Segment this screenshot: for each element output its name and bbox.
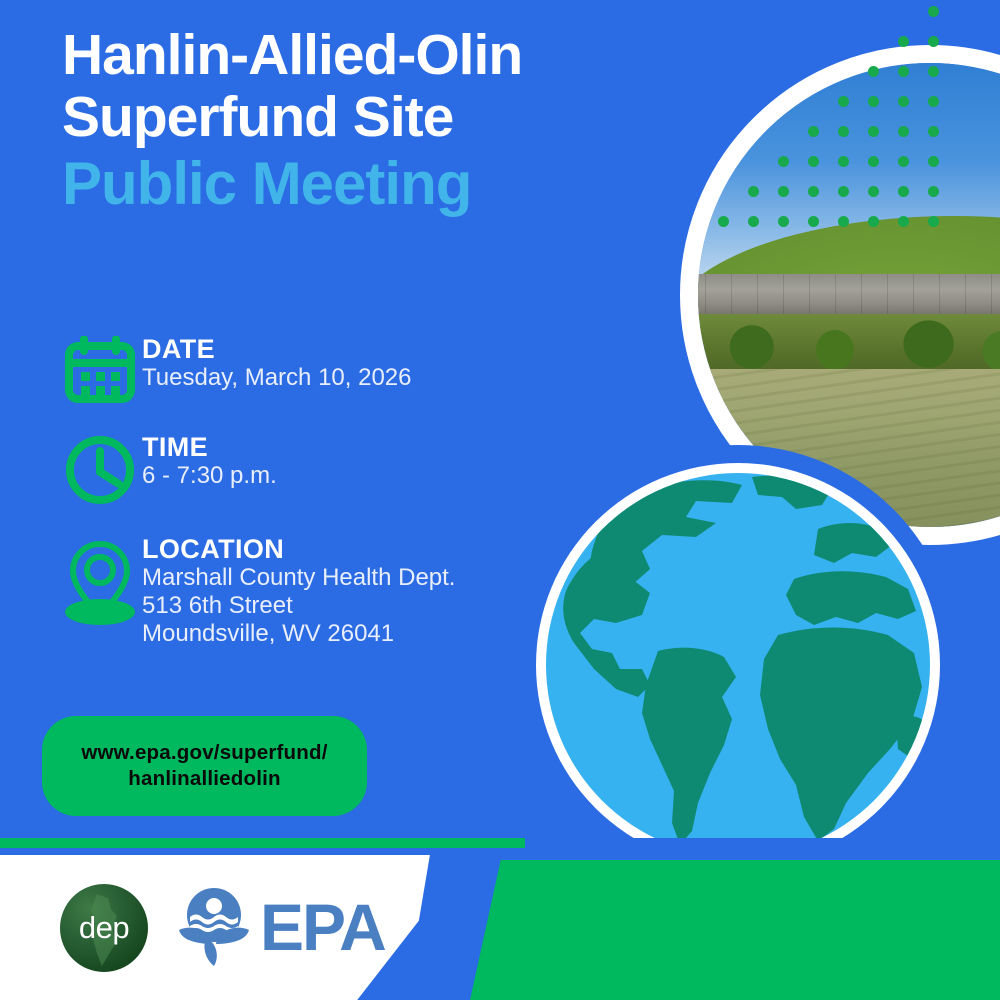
decorative-dot	[838, 96, 849, 107]
detail-value-date: Tuesday, March 10, 2026	[142, 364, 411, 392]
globe-sphere	[546, 473, 930, 857]
decorative-dot	[868, 126, 879, 137]
decorative-dot	[928, 186, 939, 197]
decorative-dot	[838, 126, 849, 137]
decorative-dot	[868, 216, 879, 227]
decorative-dot	[778, 216, 789, 227]
poster-canvas: Hanlin-Allied-Olin Superfund Site Public…	[0, 0, 1000, 1000]
decorative-dot	[928, 216, 939, 227]
decorative-dot	[898, 36, 909, 47]
decorative-dot	[838, 186, 849, 197]
detail-value-location-2: 513 6th Street	[142, 592, 455, 620]
decorative-dot	[778, 186, 789, 197]
detail-label-location: LOCATION	[142, 534, 455, 564]
epa-flower-icon-svg	[176, 886, 252, 968]
decorative-dot	[868, 96, 879, 107]
title-heading: Hanlin-Allied-Olin Superfund Site Public…	[62, 24, 702, 216]
detail-text-date: DATE Tuesday, March 10, 2026	[142, 332, 411, 392]
detail-text-location: LOCATION Marshall County Health Dept. 51…	[142, 532, 455, 648]
epa-logo-text: EPA	[260, 894, 385, 960]
decorative-dot	[718, 216, 729, 227]
decorative-dot	[898, 66, 909, 77]
title-line-2: Superfund Site	[62, 85, 453, 149]
footer-green-line	[0, 838, 525, 848]
calendar-icon-svg	[64, 336, 136, 404]
location-pin-icon	[58, 532, 142, 628]
decorative-dot	[808, 186, 819, 197]
decorative-dot	[928, 156, 939, 167]
location-pin-icon-svg	[62, 536, 138, 628]
detail-value-location-3: Moundsville, WV 26041	[142, 620, 455, 648]
detail-label-date: DATE	[142, 334, 411, 364]
decorative-dot	[748, 186, 759, 197]
decorative-dot	[808, 156, 819, 167]
detail-value-location-1: Marshall County Health Dept.	[142, 564, 455, 592]
website-url-button[interactable]: www.epa.gov/superfund/ hanlinalliedolin	[42, 716, 367, 816]
decorative-dot	[928, 126, 939, 137]
title-subtitle: Public Meeting	[62, 152, 702, 216]
website-url-line-1: www.epa.gov/superfund/	[81, 741, 327, 764]
website-url-text: www.epa.gov/superfund/ hanlinalliedolin	[81, 740, 327, 792]
decorative-dot	[898, 156, 909, 167]
epa-logo: EPA	[176, 886, 385, 968]
event-details: DATE Tuesday, March 10, 2026 TIME 6 - 7:…	[58, 332, 528, 674]
decorative-dot	[808, 216, 819, 227]
decorative-dot	[778, 156, 789, 167]
decorative-dot	[868, 186, 879, 197]
detail-value-time: 6 - 7:30 p.m.	[142, 462, 277, 490]
clock-icon-svg	[64, 434, 136, 506]
decorative-dot	[898, 216, 909, 227]
decorative-dot	[928, 6, 939, 17]
title-line-1: Hanlin-Allied-Olin	[62, 23, 522, 87]
decorative-dot	[808, 126, 819, 137]
epa-flower-icon	[176, 886, 252, 968]
clock-icon	[58, 430, 142, 506]
detail-row-location: LOCATION Marshall County Health Dept. 51…	[58, 532, 528, 648]
photo-retaining-wall	[680, 274, 1000, 318]
decorative-dot	[928, 36, 939, 47]
calendar-icon	[58, 332, 142, 404]
wv-dep-logo: dep	[60, 884, 148, 972]
decorative-dot	[898, 96, 909, 107]
website-url-line-2: hanlinalliedolin	[128, 767, 280, 790]
poster-title: Hanlin-Allied-Olin Superfund Site Public…	[62, 24, 702, 216]
detail-label-time: TIME	[142, 432, 277, 462]
decorative-dot	[868, 156, 879, 167]
decorative-dot	[868, 66, 879, 77]
decorative-dot	[898, 126, 909, 137]
detail-row-time: TIME 6 - 7:30 p.m.	[58, 430, 528, 506]
dep-logo-text: dep	[60, 911, 148, 944]
detail-row-date: DATE Tuesday, March 10, 2026	[58, 332, 528, 404]
decorative-dot	[748, 216, 759, 227]
globe-continents-icon	[546, 473, 930, 857]
globe-graphic	[518, 445, 958, 885]
photo-brush-line	[680, 314, 1000, 374]
footer-green-block	[470, 855, 1000, 1000]
decorative-dot	[928, 96, 939, 107]
decorative-dot	[838, 156, 849, 167]
detail-text-time: TIME 6 - 7:30 p.m.	[142, 430, 277, 490]
decorative-dot	[928, 66, 939, 77]
decorative-dot	[838, 216, 849, 227]
decorative-dot	[898, 186, 909, 197]
